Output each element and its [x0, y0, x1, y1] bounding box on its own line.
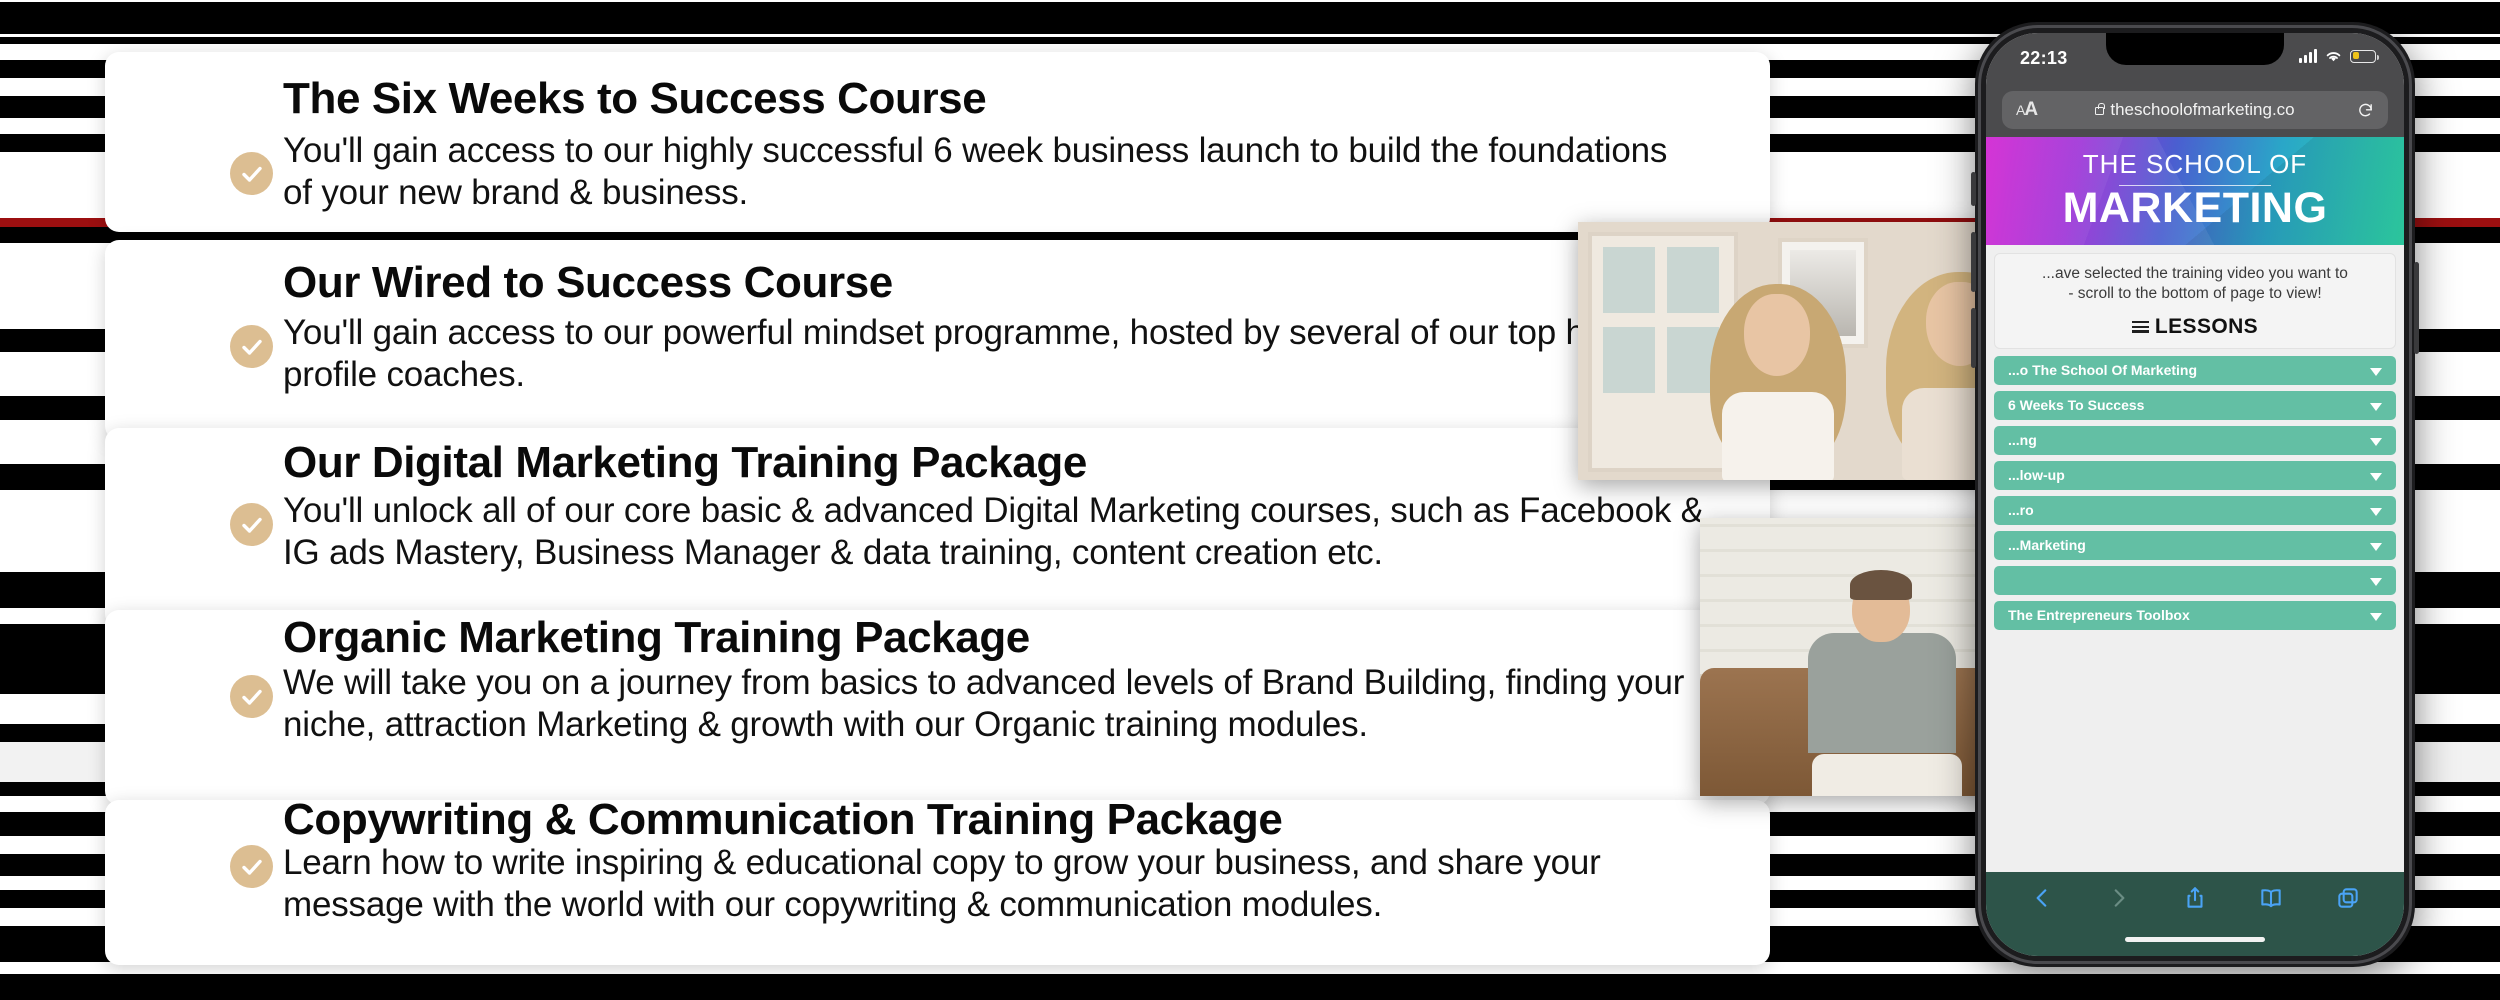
feature-card: Our Wired to Success Course You'll gain … [105, 240, 1770, 440]
safari-bottom-toolbar [1986, 872, 2404, 956]
hero-line-1: THE SCHOOL OF [1986, 137, 2404, 180]
url-text: theschoolofmarketing.co [2110, 100, 2294, 120]
lock-icon [2095, 107, 2104, 115]
hero-line-2: MARKETING [1986, 187, 2404, 231]
text-size-icon[interactable]: AA [2016, 99, 2037, 121]
notice-line-1: ...ave selected the training video you w… [2005, 264, 2385, 284]
lessons-header[interactable]: LESSONS [2005, 315, 2385, 339]
url-display: theschoolofmarketing.co [2002, 100, 2388, 120]
card-title: Our Wired to Success Course [283, 258, 893, 308]
chevron-down-icon [2370, 473, 2382, 481]
feature-card: Copywriting & Communication Training Pac… [105, 800, 1770, 965]
cellular-signal-icon [2299, 49, 2317, 63]
lesson-accordion-list: ...o The School Of Marketing 6 Weeks To … [1986, 356, 2404, 630]
chevron-down-icon [2370, 438, 2382, 446]
phone-screen: 22:13 AA theschoolofmarketing.co [1986, 33, 2404, 956]
lesson-label: ...Marketing [1994, 537, 2086, 553]
feature-card: Our Digital Marketing Training Package Y… [105, 428, 1770, 628]
presenter-body [1808, 633, 1956, 753]
lesson-item[interactable] [1994, 566, 2396, 595]
check-circle-icon [230, 845, 273, 888]
feature-card: Organic Marketing Training Package We wi… [105, 610, 1770, 805]
home-indicator [2125, 937, 2265, 942]
cabinet-pane [1600, 324, 1658, 396]
address-bar[interactable]: AA theschoolofmarketing.co [2002, 91, 2388, 129]
card-body: You'll unlock all of our core basic & ad… [283, 490, 1733, 575]
phone-mockup: 22:13 AA theschoolofmarketing.co [1975, 22, 2415, 967]
feature-card-list: The Six Weeks to Success Course You'll g… [0, 0, 1680, 1000]
chevron-down-icon [2370, 508, 2382, 516]
hero-banner: THE SCHOOL OF MARKETING [1986, 137, 2404, 245]
lesson-label: ...low-up [1994, 467, 2065, 483]
status-time: 22:13 [2020, 48, 2068, 69]
face [1744, 294, 1810, 376]
lesson-label: 6 Weeks To Success [1994, 397, 2144, 413]
power-button[interactable] [2414, 262, 2419, 354]
silent-switch[interactable] [1971, 172, 1976, 206]
tabs-icon[interactable] [2335, 885, 2361, 911]
chevron-down-icon [2370, 403, 2382, 411]
volume-down-button[interactable] [1971, 308, 1976, 368]
lesson-label: ...ng [1994, 432, 2037, 448]
card-body: We will take you on a journey from basic… [283, 662, 1733, 747]
presenter-hair [1850, 570, 1912, 600]
check-circle-icon [230, 503, 273, 546]
lesson-label: ...ro [1994, 502, 2034, 518]
notice-line-2: - scroll to the bottom of page to view! [2005, 284, 2385, 304]
top [1722, 392, 1834, 480]
presenter-left [1688, 280, 1868, 480]
chevron-down-icon [2370, 368, 2382, 376]
notice-card: ...ave selected the training video you w… [1994, 253, 2396, 349]
chevron-down-icon [2370, 543, 2382, 551]
share-icon[interactable] [2182, 885, 2208, 911]
chevron-down-icon [2370, 613, 2382, 621]
status-indicators [2299, 49, 2376, 63]
book-icon[interactable] [2258, 885, 2284, 911]
card-body: You'll gain access to our highly success… [283, 130, 1683, 215]
chevron-right-icon[interactable] [2106, 885, 2132, 911]
safari-top-chrome: 22:13 AA theschoolofmarketing.co [1986, 33, 2404, 137]
card-title: Copywriting & Communication Training Pac… [283, 795, 1282, 845]
lesson-item[interactable]: ...Marketing [1994, 531, 2396, 560]
feature-card: The Six Weeks to Success Course You'll g… [105, 52, 1770, 232]
lesson-item[interactable]: 6 Weeks To Success [1994, 391, 2396, 420]
lesson-item[interactable]: ...o The School Of Marketing [1994, 356, 2396, 385]
web-page-content: THE SCHOOL OF MARKETING ...ave selected … [1986, 137, 2404, 872]
lesson-item[interactable]: ...ng [1994, 426, 2396, 455]
status-bar: 22:13 [1986, 33, 2404, 85]
check-circle-icon [230, 152, 273, 195]
check-circle-icon [230, 675, 273, 718]
chevron-down-icon [2370, 578, 2382, 586]
cabinet-pane [1600, 244, 1658, 316]
volume-up-button[interactable] [1971, 232, 1976, 292]
card-title: The Six Weeks to Success Course [283, 74, 986, 124]
chevron-left-icon[interactable] [2029, 885, 2055, 911]
lesson-item[interactable]: ...low-up [1994, 461, 2396, 490]
wifi-icon [2324, 49, 2343, 63]
lesson-label: ...o The School Of Marketing [1994, 362, 2197, 378]
reload-icon[interactable] [2357, 102, 2374, 119]
toolbar-icons [1986, 872, 2404, 924]
battery-low-icon [2350, 50, 2376, 63]
presenter-legs [1812, 754, 1962, 796]
lessons-label: LESSONS [2155, 315, 2258, 339]
card-body: Learn how to write inspiring & education… [283, 842, 1733, 927]
lesson-item[interactable]: The Entrepreneurs Toolbox [1994, 601, 2396, 630]
lesson-label: The Entrepreneurs Toolbox [1994, 607, 2190, 623]
hamburger-menu-icon[interactable] [2132, 321, 2149, 333]
check-circle-icon [230, 325, 273, 368]
card-body: You'll gain access to our powerful minds… [283, 312, 1733, 397]
card-title: Our Digital Marketing Training Package [283, 438, 1087, 488]
lesson-item[interactable]: ...ro [1994, 496, 2396, 525]
card-title: Organic Marketing Training Package [283, 613, 1030, 663]
